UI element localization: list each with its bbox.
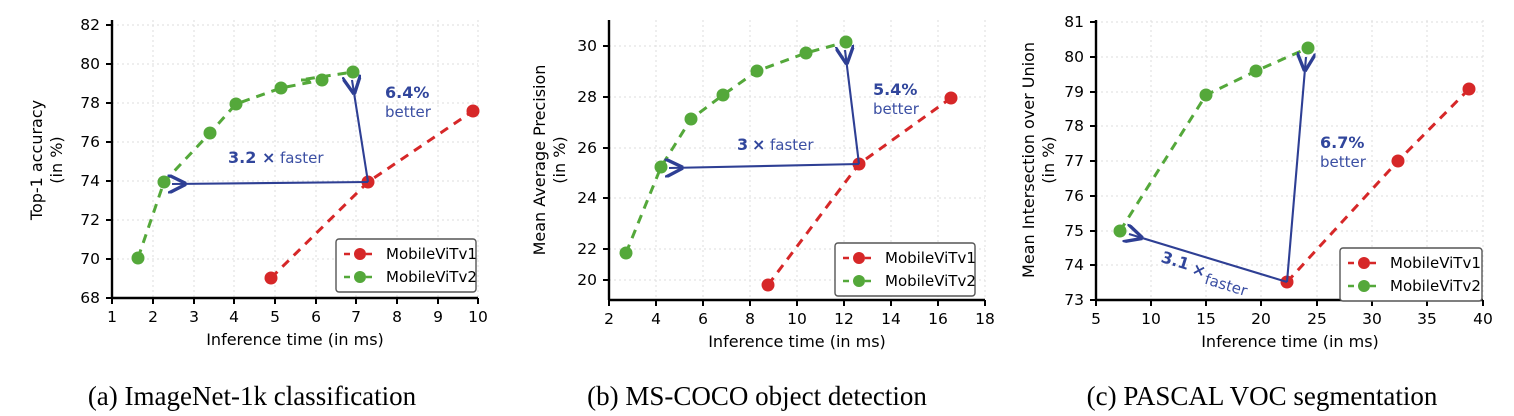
y-axis-title-line2: (in %) (47, 136, 66, 183)
y-tick-label: 79 (1064, 83, 1084, 101)
panel-imagenet: 82 80 78 76 74 72 70 68 1 2 3 4 5 6 7 8 … (0, 0, 504, 416)
x-tick-label: 35 (1417, 310, 1437, 328)
annotation-speed-word: faster (1203, 270, 1251, 300)
annotation-arrow-better (352, 80, 368, 182)
data-point (840, 36, 853, 49)
panel-mscoco: 30 28 26 24 22 20 2 4 6 8 10 12 14 16 18… (505, 0, 1009, 416)
annotation-gain-value: 6.4% (385, 83, 429, 102)
y-tick-label: 26 (577, 139, 597, 157)
y-tick-label: 74 (80, 172, 100, 190)
y-tick-label: 75 (1064, 222, 1084, 240)
panel-caption-c: (c) PASCAL VOC segmentation (1010, 381, 1514, 412)
x-axis-title: Inference time (in ms) (1201, 332, 1379, 351)
legend-marker-v2 (853, 275, 865, 287)
data-point (467, 105, 480, 118)
annotation-speed-word: faster (280, 149, 324, 167)
y-tick-label: 78 (1064, 117, 1084, 135)
annotation-arrow-faster (172, 182, 368, 184)
annotation-gain-word: better (1320, 153, 1367, 171)
y-axis-title-line1: Mean Intersection over Union (1019, 42, 1038, 278)
x-axis-title: Inference time (in ms) (708, 332, 886, 351)
data-point (275, 82, 288, 95)
x-tick-label: 3 (189, 308, 199, 326)
y-tick-label: 74 (1064, 256, 1084, 274)
legend-label-v2: MobileViTv2 (885, 272, 976, 290)
y-tick-label: 70 (80, 250, 100, 268)
y-tick-label: 77 (1064, 152, 1084, 170)
data-point (1302, 42, 1315, 55)
y-tick-label: 30 (577, 37, 597, 55)
x-tick-label: 12 (834, 310, 854, 328)
data-point (620, 247, 633, 260)
plot-area-a: 82 80 78 76 74 72 70 68 1 2 3 4 5 6 7 8 … (0, 0, 504, 360)
x-tick-labels-a: 1 2 3 4 5 6 7 8 9 10 (107, 308, 488, 326)
data-point (762, 279, 775, 292)
panel-caption-a: (a) ImageNet-1k classification (0, 381, 504, 412)
y-tick-labels-b: 30 28 26 24 22 20 (577, 37, 597, 289)
x-tick-label: 8 (392, 308, 402, 326)
x-tick-label: 40 (1473, 310, 1493, 328)
y-tick-label: 80 (80, 55, 100, 73)
data-point (751, 65, 764, 78)
y-tick-label: 81 (1064, 13, 1084, 31)
annotation-times-symbol: × (752, 135, 765, 154)
y-tick-labels-a: 82 80 78 76 74 72 70 68 (80, 16, 100, 307)
data-point (717, 89, 730, 102)
annotation-gain-value: 5.4% (873, 80, 917, 99)
annotation-speed-word: faster (770, 136, 814, 154)
legend-label-v2: MobileViTv2 (1390, 277, 1481, 295)
legend-label-v1: MobileViTv1 (885, 249, 976, 267)
data-point (945, 92, 958, 105)
plot-area-b: 30 28 26 24 22 20 2 4 6 8 10 12 14 16 18… (505, 0, 1009, 360)
x-tick-label: 10 (468, 308, 488, 326)
x-tick-label: 4 (651, 310, 661, 328)
legend-c[interactable]: MobileViTv1 MobileViTv2 (1340, 248, 1482, 301)
data-point (1463, 83, 1476, 96)
x-tick-label: 5 (270, 308, 280, 326)
data-point (132, 252, 145, 265)
annotation-speed-value: 3 (737, 135, 748, 154)
y-tick-label: 73 (1064, 291, 1084, 309)
data-point (230, 98, 243, 111)
annotation-times-symbol: × (262, 148, 275, 167)
data-point (1114, 225, 1127, 238)
data-point (1250, 65, 1263, 78)
x-tick-label: 5 (1091, 310, 1101, 328)
legend-a[interactable]: MobileViTv1 MobileViTv2 (336, 239, 477, 292)
annotation-arrow-better (1287, 57, 1306, 282)
figure-root: 82 80 78 76 74 72 70 68 1 2 3 4 5 6 7 8 … (0, 0, 1514, 416)
x-tick-label: 15 (1196, 310, 1216, 328)
x-tick-label: 14 (881, 310, 901, 328)
y-tick-label: 20 (577, 271, 597, 289)
legend-b[interactable]: MobileViTv1 MobileViTv2 (835, 243, 976, 296)
data-point (800, 47, 813, 60)
x-tick-label: 16 (928, 310, 948, 328)
y-tick-label: 24 (577, 189, 597, 207)
legend-label-v1: MobileViTv1 (386, 245, 477, 263)
data-point (347, 66, 360, 79)
x-tick-label: 1 (107, 308, 117, 326)
data-point (655, 161, 668, 174)
plot-area-c: 81 80 79 78 77 76 75 74 73 5 10 15 20 25… (1010, 0, 1514, 360)
annotation-gain-word: better (385, 103, 432, 121)
x-tick-label: 6 (698, 310, 708, 328)
x-axis-title: Inference time (in ms) (206, 330, 384, 349)
panel-caption-b: (b) MS-COCO object detection (505, 381, 1009, 412)
y-tick-label: 78 (80, 94, 100, 112)
data-point (265, 272, 278, 285)
x-tick-label: 9 (433, 308, 443, 326)
x-tick-label: 2 (604, 310, 614, 328)
y-tick-label: 28 (577, 88, 597, 106)
x-tick-label: 10 (1141, 310, 1161, 328)
x-tick-label: 18 (975, 310, 995, 328)
y-axis-title-line2: (in %) (550, 136, 569, 183)
x-tick-label: 20 (1251, 310, 1271, 328)
y-tick-label: 76 (80, 133, 100, 151)
x-tick-label: 30 (1362, 310, 1382, 328)
y-tick-label: 22 (577, 240, 597, 258)
data-point (204, 127, 217, 140)
x-tick-label: 6 (311, 308, 321, 326)
legend-marker-v1 (1358, 257, 1370, 269)
x-tick-label: 4 (229, 308, 239, 326)
annotation-arrow-faster (669, 164, 859, 168)
data-point (685, 113, 698, 126)
legend-label-v2: MobileViTv2 (386, 268, 477, 286)
data-point (158, 176, 171, 189)
y-axis-title-line2: (in %) (1039, 136, 1058, 183)
annotation-speed-value: 3.2 (228, 148, 256, 167)
annotation-arrow-better (845, 50, 859, 164)
x-tick-label: 10 (787, 310, 807, 328)
series-line-mobilevitv2 (1120, 48, 1308, 231)
y-axis-title-line1: Mean Average Precision (530, 65, 549, 256)
data-point (1200, 89, 1213, 102)
y-tick-label: 68 (80, 289, 100, 307)
series-points-mobilevitv2 (1114, 42, 1315, 238)
annotation-gain-value: 6.7% (1320, 133, 1364, 152)
x-tick-labels-b: 2 4 6 8 10 12 14 16 18 (604, 310, 995, 328)
y-tick-labels-c: 81 80 79 78 77 76 75 74 73 (1064, 13, 1084, 309)
y-tick-label: 76 (1064, 187, 1084, 205)
y-tick-label: 82 (80, 16, 100, 34)
y-tick-label: 80 (1064, 48, 1084, 66)
legend-marker-v1 (354, 248, 366, 260)
data-point (1392, 155, 1405, 168)
legend-marker-v1 (853, 252, 865, 264)
data-point (316, 74, 329, 87)
panel-pascalvoc: 81 80 79 78 77 76 75 74 73 5 10 15 20 25… (1010, 0, 1514, 416)
legend-label-v1: MobileViTv1 (1390, 254, 1481, 272)
x-tick-label: 25 (1307, 310, 1327, 328)
x-tick-label: 7 (351, 308, 361, 326)
x-tick-labels-c: 5 10 15 20 25 30 35 40 (1091, 310, 1493, 328)
legend-marker-v2 (354, 271, 366, 283)
legend-marker-v2 (1358, 280, 1370, 292)
y-axis-title-line1: Top-1 accuracy (27, 100, 46, 221)
annotation-gain-word: better (873, 100, 920, 118)
x-tick-label: 8 (745, 310, 755, 328)
x-tick-label: 2 (148, 308, 158, 326)
y-tick-label: 72 (80, 211, 100, 229)
